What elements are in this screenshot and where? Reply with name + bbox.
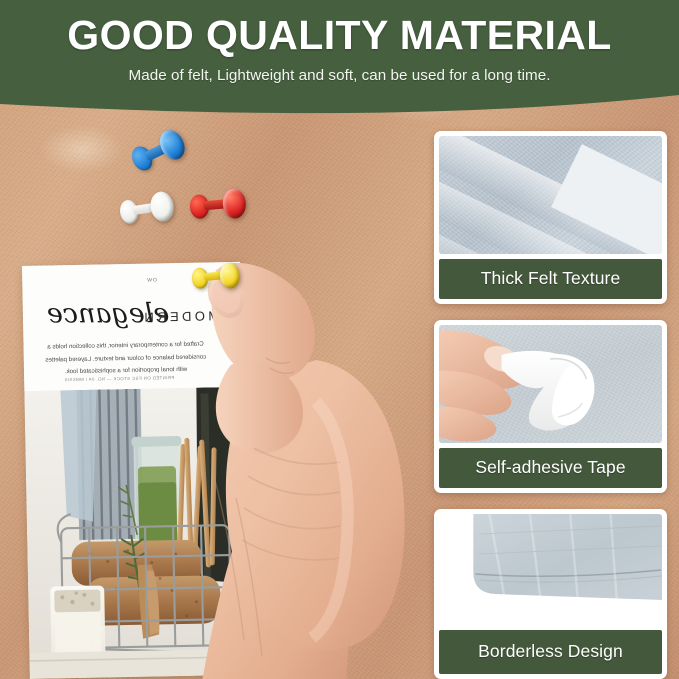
thick-felt-texture-image <box>439 136 662 254</box>
borderless-design-image <box>439 514 662 626</box>
page-subtitle: Made of felt, Lightweight and soft, can … <box>0 67 679 84</box>
product-feature-image: OW elegance MODERN Crafted for a contemp… <box>0 0 679 679</box>
poster-fine-print: PRINTED ON FSC STOCK — NO. 04 / MMXXIII <box>64 375 174 382</box>
feature-card-list: Thick Felt Texture <box>434 131 667 679</box>
card-borderless-design: Borderless Design <box>434 509 667 679</box>
header-banner: GOOD QUALITY MATERIAL Made of felt, Ligh… <box>0 0 679 122</box>
thick-felt-texture-label: Thick Felt Texture <box>439 259 662 299</box>
card-thick-felt-texture: Thick Felt Texture <box>434 131 667 304</box>
pushpin-red <box>189 188 248 225</box>
self-adhesive-tape-label: Self-adhesive Tape <box>439 448 662 488</box>
pushpin-yellow <box>191 262 242 294</box>
poster-kicker: OW <box>146 277 157 283</box>
page-title: GOOD QUALITY MATERIAL <box>0 15 679 56</box>
poster-body-text: Crafted for a contemporary interior, thi… <box>41 338 210 379</box>
card-self-adhesive-tape: Self-adhesive Tape <box>434 320 667 493</box>
borderless-design-label: Borderless Design <box>439 630 662 674</box>
hand-pressing-pushpin <box>196 262 446 679</box>
self-adhesive-tape-image <box>439 325 662 443</box>
